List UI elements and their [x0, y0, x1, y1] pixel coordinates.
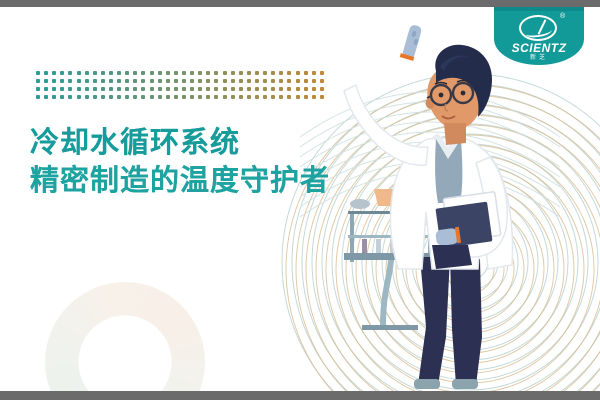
test-tube: [400, 24, 423, 61]
dot-grid-dot: [101, 79, 105, 83]
dot-grid-dot: [52, 71, 56, 75]
dot-grid-dot: [166, 79, 170, 83]
dot-grid-dot: [158, 79, 162, 83]
dot-grid-dot: [44, 79, 48, 83]
dot-grid-dot: [255, 79, 259, 83]
dot-grid-dot: [77, 71, 81, 75]
dot-grid-dot: [190, 71, 194, 75]
dot-grid-dot: [231, 71, 235, 75]
dot-grid-dot: [239, 95, 243, 99]
dot-grid-dot: [206, 95, 210, 99]
dot-grid-dot: [36, 95, 40, 99]
dot-grid-dot: [141, 71, 145, 75]
dot-grid-dot: [141, 79, 145, 83]
dot-grid-dot: [93, 79, 97, 83]
dot-grid-dot: [296, 95, 300, 99]
dot-grid-dot: [271, 71, 275, 75]
dot-grid-dot: [279, 71, 283, 75]
dot-grid-row: [36, 79, 324, 87]
dot-grid-dot: [117, 79, 121, 83]
dot-grid-dot: [174, 95, 178, 99]
dot-grid-dot: [263, 87, 267, 91]
dot-grid-dot: [125, 71, 129, 75]
dot-grid-row: [36, 95, 324, 103]
dot-grid-dot: [109, 95, 113, 99]
dot-grid-dot: [255, 71, 259, 75]
dot-grid-dot: [141, 87, 145, 91]
dot-grid-dot: [296, 71, 300, 75]
dot-grid-dot: [117, 95, 121, 99]
dot-grid-dot: [85, 95, 89, 99]
dot-grid-dot: [85, 87, 89, 91]
dot-grid-dot: [174, 71, 178, 75]
dot-grid-dot: [44, 95, 48, 99]
dot-grid-dot: [174, 87, 178, 91]
dot-grid-dot: [150, 79, 154, 83]
dot-grid-dot: [60, 79, 64, 83]
dot-grid-dot: [247, 79, 251, 83]
dot-grid-dot: [158, 95, 162, 99]
dot-grid-dot: [223, 95, 227, 99]
dot-grid-dot: [239, 87, 243, 91]
dot-grid-dot: [279, 95, 283, 99]
dot-grid-dot: [247, 87, 251, 91]
dot-grid-dot: [255, 95, 259, 99]
dot-grid-dot: [198, 95, 202, 99]
dot-grid-dot: [279, 87, 283, 91]
dot-grid-dot: [255, 87, 259, 91]
dot-grid-dot: [93, 95, 97, 99]
dot-grid-dot: [36, 87, 40, 91]
dot-grid-dot: [166, 95, 170, 99]
scientist-illustration: [300, 7, 600, 400]
dot-grid-dot: [190, 79, 194, 83]
dot-grid-dot: [231, 79, 235, 83]
dot-grid-dot: [271, 79, 275, 83]
promo-banner: 冷却水循环系统 精密制造的温度守护者 ® SCIENTZ 新芝: [0, 0, 600, 400]
dot-grid-dot: [182, 87, 186, 91]
dot-grid-row: [36, 87, 324, 95]
dot-grid-dot: [214, 79, 218, 83]
dot-grid-dot: [279, 79, 283, 83]
dot-grid-dot: [77, 87, 81, 91]
dot-grid-dot: [85, 71, 89, 75]
dot-grid-dot: [68, 79, 72, 83]
dot-grid-dot: [190, 87, 194, 91]
dot-grid-dot: [287, 71, 291, 75]
dot-grid-dot: [125, 87, 129, 91]
dot-grid-dot: [93, 87, 97, 91]
dot-grid-decoration: [36, 71, 324, 103]
dot-grid-dot: [141, 95, 145, 99]
dot-grid-dot: [271, 95, 275, 99]
dot-grid-dot: [68, 95, 72, 99]
dot-grid-dot: [60, 71, 64, 75]
dot-grid-dot: [263, 71, 267, 75]
dot-grid-dot: [125, 95, 129, 99]
dot-grid-dot: [52, 87, 56, 91]
dot-grid-dot: [296, 87, 300, 91]
dot-grid-dot: [182, 95, 186, 99]
dot-grid-dot: [206, 79, 210, 83]
dot-grid-dot: [150, 87, 154, 91]
dot-grid-dot: [263, 79, 267, 83]
dot-grid-dot: [52, 79, 56, 83]
dot-grid-dot: [223, 87, 227, 91]
dot-grid-dot: [133, 87, 137, 91]
dot-grid-dot: [150, 71, 154, 75]
dot-grid-dot: [166, 71, 170, 75]
dot-grid-dot: [109, 71, 113, 75]
dot-grid-dot: [223, 71, 227, 75]
dot-grid-dot: [125, 79, 129, 83]
dot-grid-dot: [109, 87, 113, 91]
dot-grid-dot: [247, 95, 251, 99]
dot-grid-dot: [109, 79, 113, 83]
dot-grid-dot: [68, 87, 72, 91]
dot-grid-dot: [166, 87, 170, 91]
dot-grid-dot: [263, 95, 267, 99]
dot-grid-dot: [117, 71, 121, 75]
head: [426, 45, 492, 145]
legs: [414, 257, 482, 389]
dot-grid-dot: [214, 71, 218, 75]
dot-grid-dot: [190, 95, 194, 99]
dot-grid-dot: [36, 79, 40, 83]
dot-grid-dot: [231, 87, 235, 91]
dot-grid-dot: [68, 71, 72, 75]
dot-grid-dot: [231, 95, 235, 99]
dot-grid-dot: [198, 87, 202, 91]
dot-grid-dot: [206, 87, 210, 91]
dot-grid-dot: [44, 71, 48, 75]
dot-grid-dot: [287, 79, 291, 83]
dot-grid-dot: [182, 71, 186, 75]
dot-grid-row: [36, 71, 324, 79]
dot-grid-dot: [77, 95, 81, 99]
dot-grid-dot: [52, 95, 56, 99]
dot-grid-dot: [158, 87, 162, 91]
dot-grid-dot: [85, 79, 89, 83]
dot-grid-dot: [101, 87, 105, 91]
dot-grid-dot: [287, 87, 291, 91]
dot-grid-dot: [117, 87, 121, 91]
dot-grid-dot: [206, 71, 210, 75]
ring-decoration: [45, 282, 205, 400]
dot-grid-dot: [101, 95, 105, 99]
dot-grid-dot: [239, 79, 243, 83]
dot-grid-dot: [198, 71, 202, 75]
dot-grid-dot: [101, 71, 105, 75]
dot-grid-dot: [214, 95, 218, 99]
dot-grid-dot: [223, 79, 227, 83]
dot-grid-dot: [60, 87, 64, 91]
dot-grid-dot: [77, 79, 81, 83]
dot-grid-dot: [271, 87, 275, 91]
dot-grid-dot: [60, 95, 64, 99]
dot-grid-dot: [214, 87, 218, 91]
dot-grid-dot: [174, 79, 178, 83]
dot-grid-dot: [36, 71, 40, 75]
dot-grid-dot: [239, 71, 243, 75]
dot-grid-dot: [93, 71, 97, 75]
dot-grid-dot: [198, 79, 202, 83]
dot-grid-dot: [287, 95, 291, 99]
dot-grid-dot: [133, 79, 137, 83]
dot-grid-dot: [158, 71, 162, 75]
dot-grid-dot: [296, 79, 300, 83]
dot-grid-dot: [133, 71, 137, 75]
dot-grid-dot: [44, 87, 48, 91]
dot-grid-dot: [182, 79, 186, 83]
dot-grid-dot: [133, 95, 137, 99]
dot-grid-dot: [247, 71, 251, 75]
dot-grid-dot: [150, 95, 154, 99]
